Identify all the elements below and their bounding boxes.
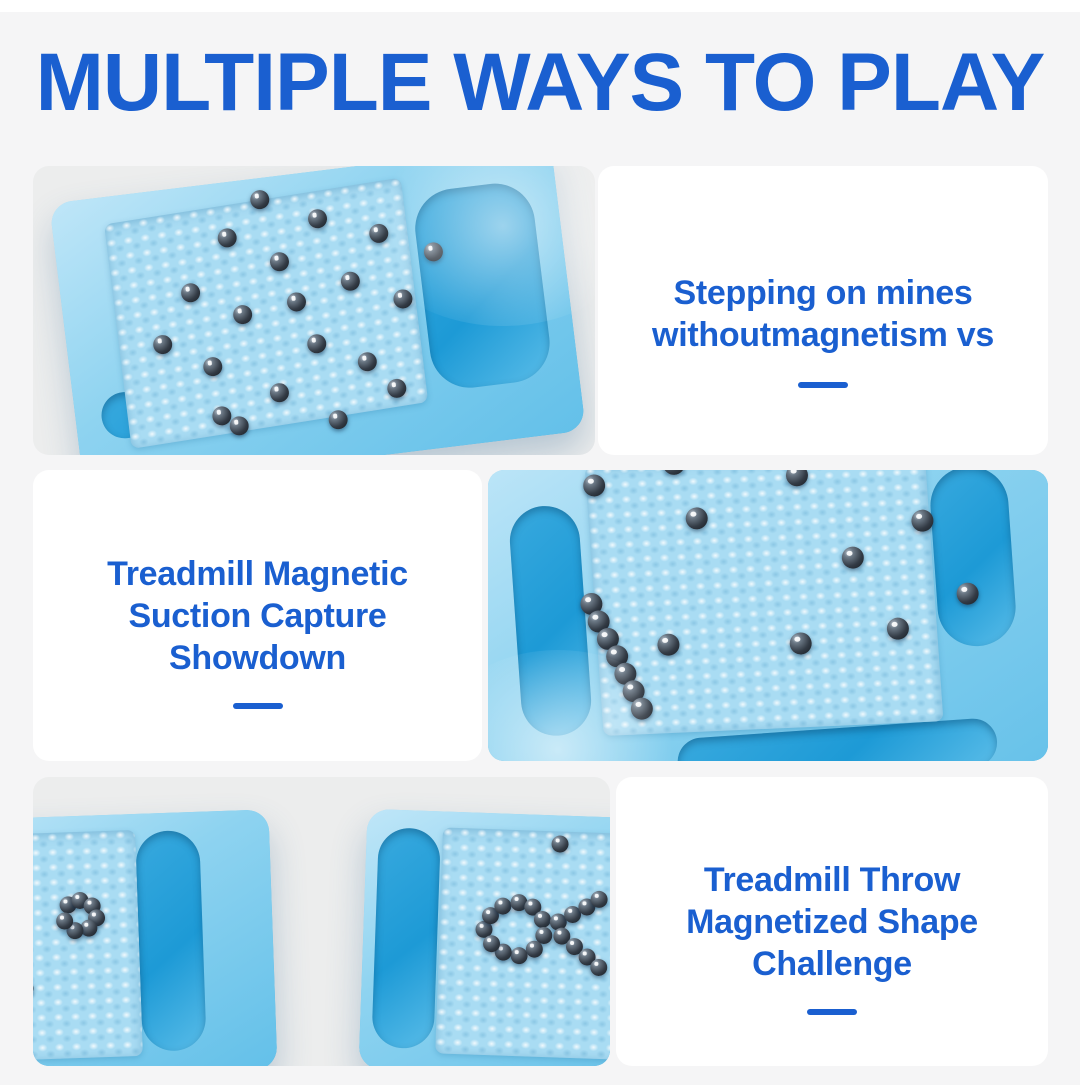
feature-image-1 [33, 166, 595, 455]
magnetic-board-illustration-1 [33, 166, 595, 455]
caption-line: Suction Capture [128, 597, 386, 635]
caption-underline-1 [798, 382, 848, 388]
caption-underline-2 [233, 703, 283, 709]
feature-caption-1: Stepping on mines withoutmagnetism vs [634, 272, 1012, 356]
caption-line: Stepping on mines [673, 274, 972, 312]
page-title: MULTIPLE WAYS TO PLAY [0, 34, 1080, 132]
caption-line: withoutmagnetism vs [652, 316, 994, 354]
feature-caption-2: Treadmill Magnetic Suction Capture Showd… [89, 553, 426, 679]
feature-row-3: Treadmill Throw Magnetized Shape Challen… [33, 777, 1048, 1066]
feature-caption-3: Treadmill Throw Magnetized Shape Challen… [668, 859, 996, 985]
feature-image-3 [33, 777, 610, 1066]
caption-line: Challenge [752, 945, 912, 983]
caption-line: Treadmill Throw [704, 861, 960, 899]
feature-text-3: Treadmill Throw Magnetized Shape Challen… [616, 777, 1048, 1066]
top-white-strip [0, 0, 1080, 12]
feature-row-2: Treadmill Magnetic Suction Capture Showd… [33, 470, 1048, 761]
feature-row-1: Stepping on mines withoutmagnetism vs [33, 166, 1048, 455]
magnetic-board-illustration-2 [488, 470, 1048, 761]
caption-line: Showdown [169, 639, 346, 677]
feature-text-1: Stepping on mines withoutmagnetism vs [598, 166, 1048, 455]
feature-image-2 [488, 470, 1048, 761]
feature-text-2: Treadmill Magnetic Suction Capture Showd… [33, 470, 482, 761]
magnetic-board-illustration-3 [33, 777, 610, 1066]
caption-underline-3 [807, 1009, 857, 1015]
caption-line: Magnetized Shape [686, 903, 978, 941]
caption-line: Treadmill Magnetic [107, 555, 408, 593]
